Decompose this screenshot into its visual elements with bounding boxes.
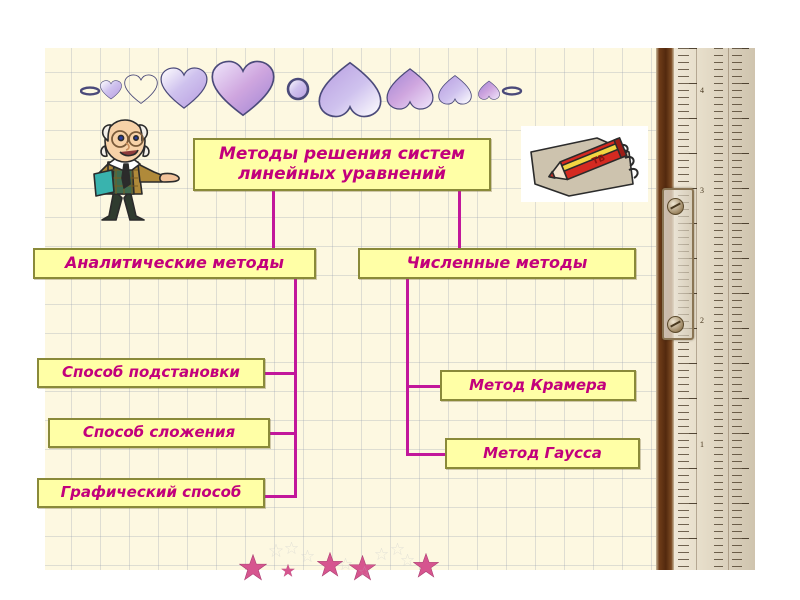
ruler-ticks-b	[714, 48, 723, 570]
ruler-digit-1: 1	[700, 440, 704, 449]
node-analytic-methods[interactable]: Аналитические методы	[33, 248, 316, 279]
ruler-seam-right	[728, 48, 729, 570]
connector-numeric-to-cramer	[406, 385, 442, 388]
node-numeric-methods[interactable]: Численные методы	[358, 248, 636, 279]
connector-analytic-to-addition	[268, 432, 297, 435]
ruler-screw-top-icon	[667, 198, 684, 215]
ruler-digit-3: 3	[700, 186, 704, 195]
connector-analytic-trunk	[294, 278, 297, 498]
ruler-digit-4: 4	[700, 86, 704, 95]
ruler-ticks-major-b	[742, 48, 749, 570]
connector-root-left	[272, 191, 275, 249]
professor-clipart	[78, 116, 184, 226]
ruler-digit-2: 2	[700, 316, 704, 325]
node-addition-method[interactable]: Способ сложения	[48, 418, 270, 448]
node-root[interactable]: Методы решения систем линейных уравнений	[193, 138, 491, 191]
connector-analytic-to-graphical	[263, 495, 297, 498]
node-gauss-method[interactable]: Метод Гаусса	[445, 438, 640, 469]
stars-divider	[235, 540, 465, 582]
hearts-divider	[80, 58, 600, 120]
node-graphical-method[interactable]: Графический способ	[37, 478, 265, 508]
ruler-ticks-c	[732, 48, 742, 570]
connector-numeric-to-gauss	[406, 453, 447, 456]
connector-root-right	[458, 191, 461, 249]
slide-rule-image: 4 3 2 1	[656, 48, 755, 570]
connector-analytic-to-substitution	[263, 372, 297, 375]
pencil-notebook-clipart: ТВ	[521, 126, 648, 202]
node-cramer-method[interactable]: Метод Крамера	[440, 370, 636, 401]
slide: 4 3 2 1	[0, 0, 800, 600]
connector-numeric-trunk	[406, 278, 409, 456]
node-substitution-method[interactable]: Способ подстановки	[37, 358, 265, 388]
ruler-screw-bottom-icon	[667, 316, 684, 333]
